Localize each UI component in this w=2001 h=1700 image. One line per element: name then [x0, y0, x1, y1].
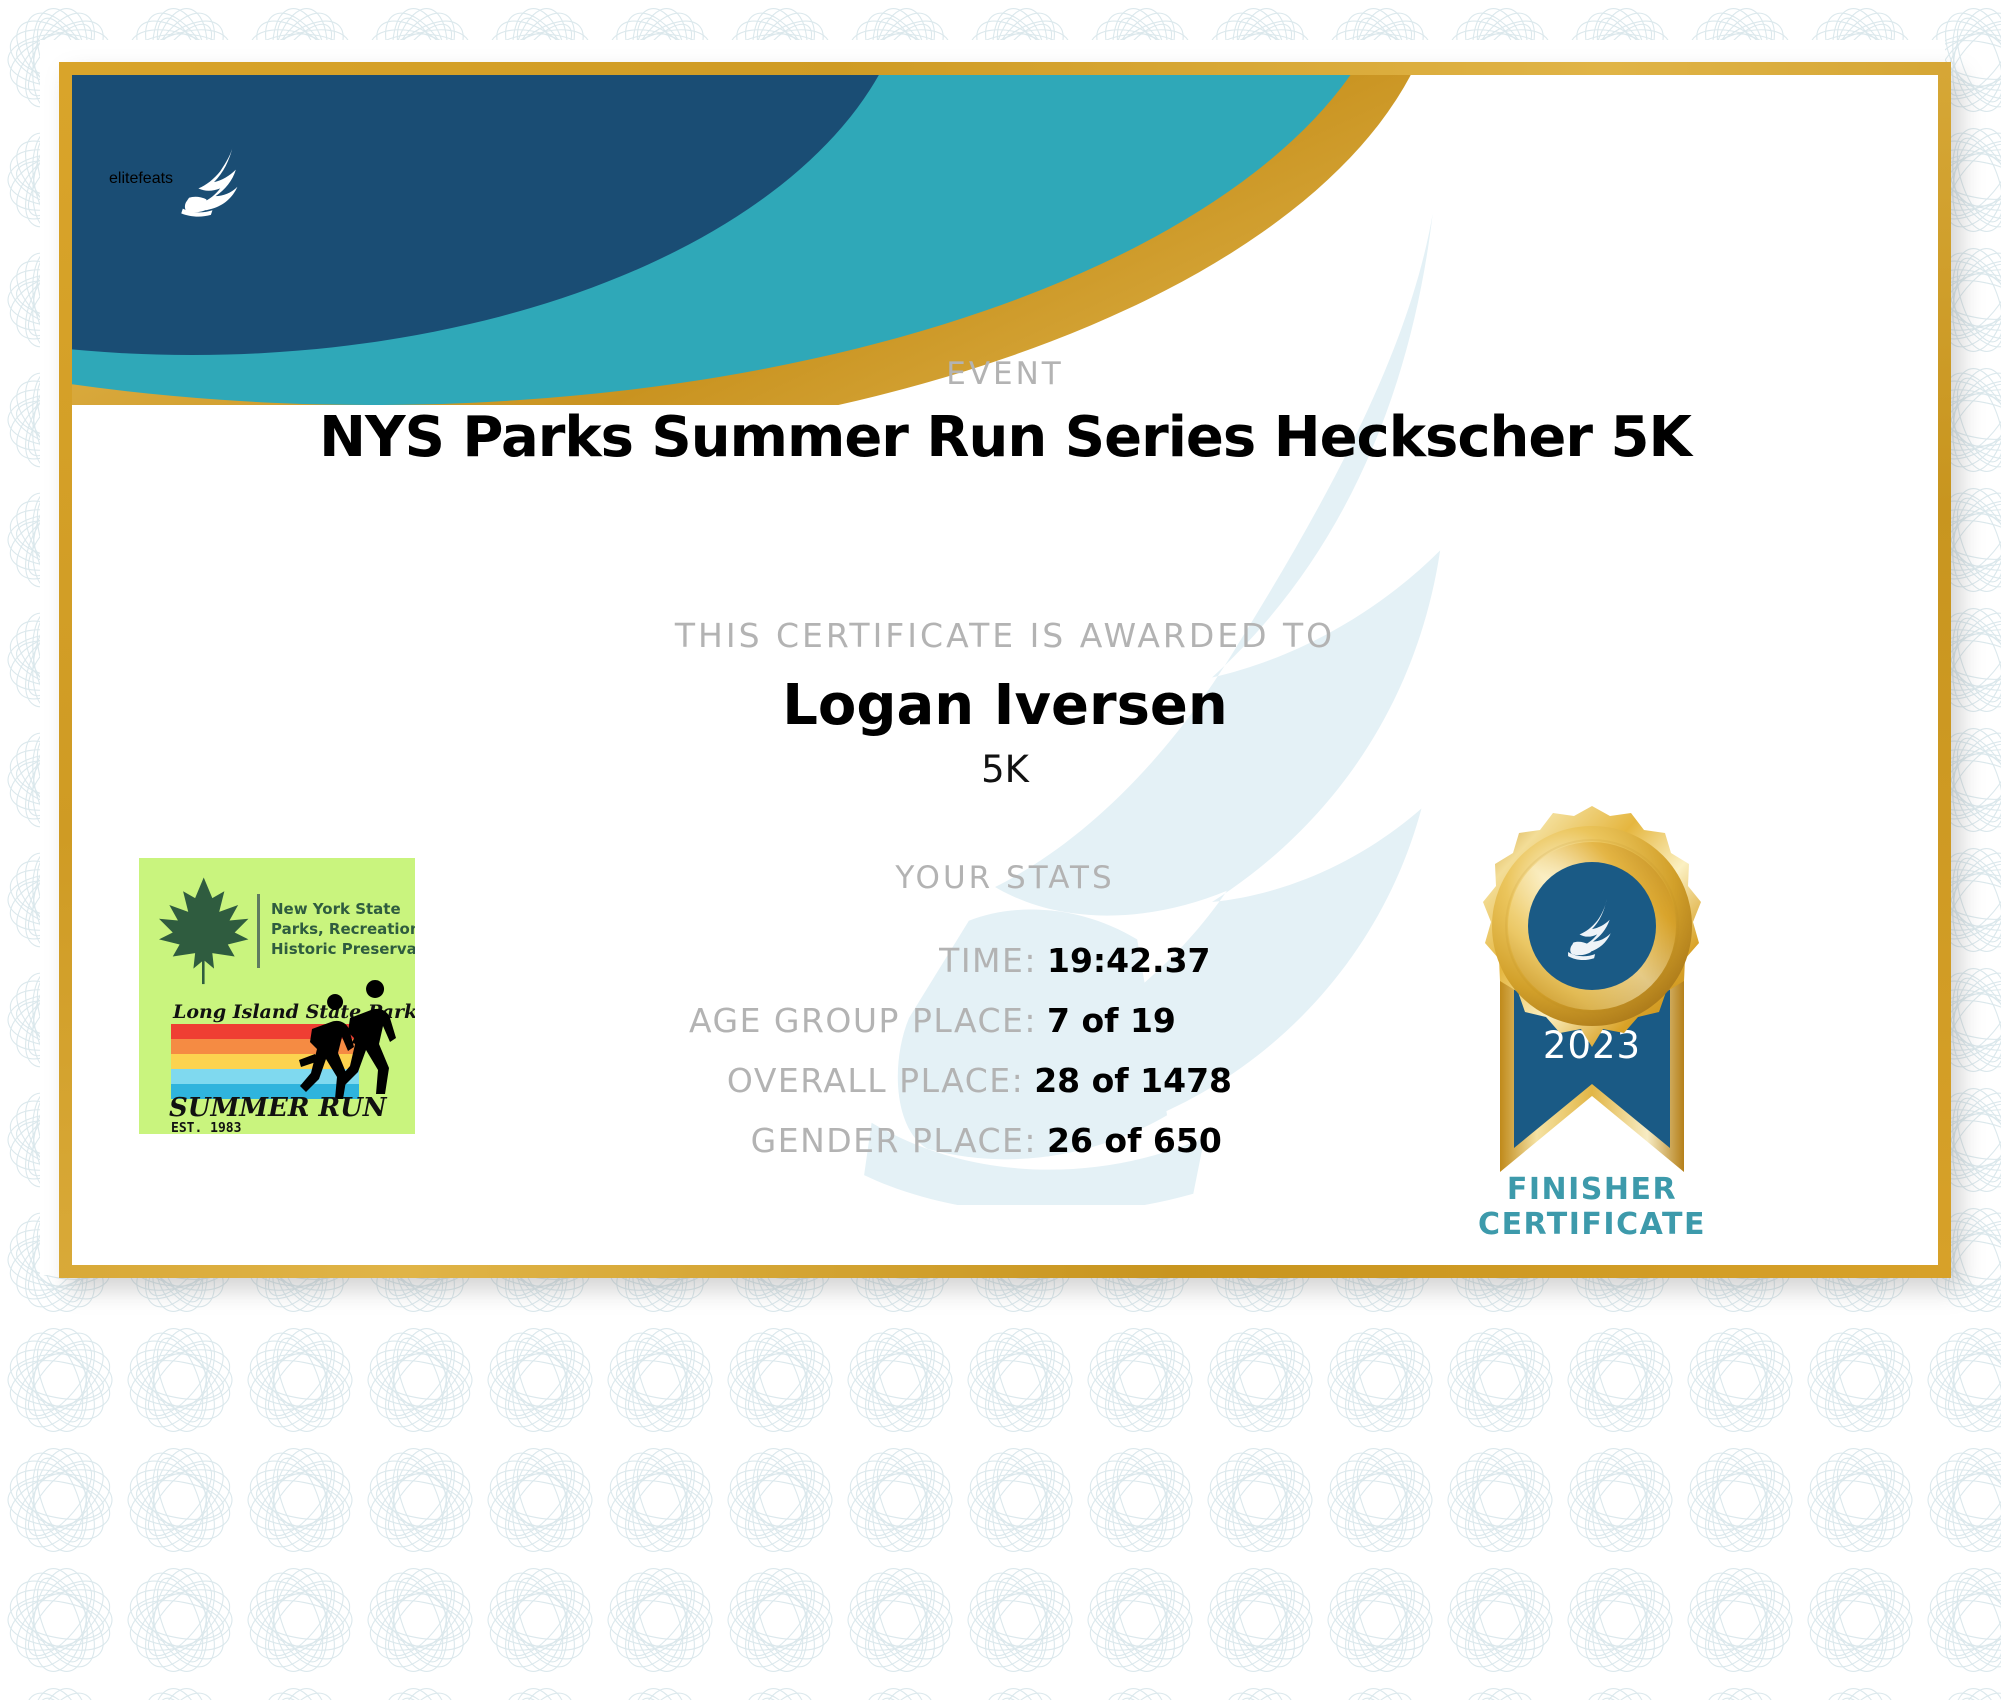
recipient-event-distance: 5K [72, 748, 1938, 791]
stat-value: 7 of 19 [1047, 1001, 1232, 1040]
stat-value: 28 of 1478 [1034, 1061, 1232, 1100]
elitefeats-wordmark: elitefeats [109, 170, 173, 188]
stat-label: OVERALL PLACE: [727, 1061, 1024, 1100]
event-kicker-label: EVENT [72, 356, 1938, 392]
sponsor-logo-nys-parks: New York State Parks, Recreation and His… [139, 858, 415, 1134]
certificate-card: elitefeats EVENT [72, 75, 1938, 1265]
certificate-frame: elitefeats EVENT [59, 62, 1951, 1278]
winged-foot-icon [175, 140, 253, 218]
sponsor-logo-artwork: New York State Parks, Recreation and His… [139, 858, 415, 1134]
recipient-name: Logan Iversen [72, 673, 1938, 738]
sponsor-event-name: SUMMER RUN [169, 1093, 388, 1123]
sponsor-established: EST. 1983 [171, 1121, 241, 1134]
stat-value: 26 of 650 [1047, 1121, 1232, 1160]
finisher-caption-line2: CERTIFICATE [1397, 1208, 1787, 1243]
event-title: NYS Parks Summer Run Series Heckscher 5K [72, 405, 1938, 470]
sponsor-agency-line3: Historic Preservation [271, 940, 415, 958]
sponsor-agency-line2: Parks, Recreation and [271, 920, 415, 938]
stat-label: AGE GROUP PLACE: [689, 1001, 1037, 1040]
finisher-certificate-caption: FINISHER CERTIFICATE [1397, 1173, 1787, 1242]
stat-label: GENDER PLACE: [751, 1121, 1037, 1160]
finisher-caption-line1: FINISHER [1397, 1173, 1787, 1208]
stat-value: 19:42.37 [1047, 941, 1232, 980]
elitefeats-logo: elitefeats [109, 140, 253, 218]
finisher-medal-badge: 2023 [1442, 800, 1742, 1230]
stat-label: TIME: [939, 941, 1037, 980]
awarded-to-label: THIS CERTIFICATE IS AWARDED TO [72, 616, 1938, 655]
sponsor-agency-line1: New York State [271, 900, 401, 918]
certificate-page: elitefeats EVENT [0, 0, 2001, 1700]
